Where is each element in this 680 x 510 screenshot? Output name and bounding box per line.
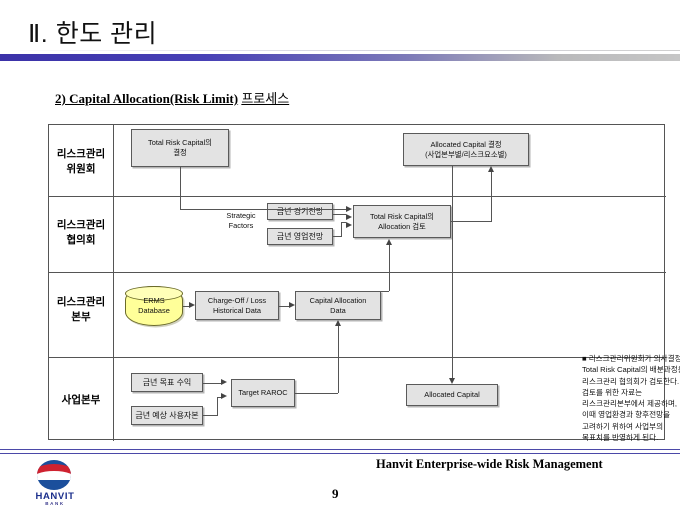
- connector-economy-right: [333, 214, 346, 215]
- connector-cad-left: [381, 291, 389, 292]
- label-strategic-factors: Strategic Factors: [217, 211, 265, 230]
- node-allocated-capital-decision[interactable]: Allocated Capital 결정 (사업본부별/리스크요소별): [403, 133, 529, 166]
- arrow-profit-to-raroc: [221, 379, 227, 385]
- node-target-profit[interactable]: 금년 목표 수익: [131, 373, 203, 392]
- node-chargeoff-loss-data[interactable]: Charge-Off / Loss Historical Data: [195, 291, 279, 320]
- node-erms-database[interactable]: ERMS Database: [125, 286, 183, 326]
- row-label-business-division: 사업본부: [49, 393, 113, 408]
- connector-profit-right: [203, 383, 221, 384]
- page-number: 9: [332, 486, 339, 502]
- connector-capital-right: [203, 415, 217, 416]
- node-capital-allocation-data[interactable]: Capital Allocation Data: [295, 291, 381, 320]
- arrow-erms-to-chargeoff: [189, 302, 195, 308]
- arrow-raroc-to-cad: [335, 320, 341, 326]
- logo-subtext: BANK: [26, 501, 84, 506]
- connector-chargeoff-right: [279, 306, 289, 307]
- row-label-risk-committee: 리스크관리 위원회: [49, 147, 113, 177]
- process-diagram: 리스크관리 위원회 리스크관리 협의회 리스크관리 본부 사업본부 Total …: [48, 124, 665, 440]
- row-divider-3: [49, 357, 666, 358]
- node-total-risk-capital-decision[interactable]: Total Risk Capital의 결정: [131, 129, 229, 167]
- arrow-review-to-allocated-decision: [488, 166, 494, 172]
- connector-trc-right: [180, 209, 346, 210]
- arrow-cad-to-review: [386, 239, 392, 245]
- node-target-raroc[interactable]: Target RAROC: [231, 379, 295, 407]
- connector-raroc-right: [295, 393, 338, 394]
- node-allocation-review[interactable]: Total Risk Capital의 Allocation 검토: [353, 205, 451, 238]
- node-expected-capital[interactable]: 금년 예상 사용자본: [131, 406, 203, 425]
- page-title: Ⅱ. 한도 관리: [28, 14, 157, 50]
- connector-decision-down: [452, 166, 453, 378]
- logo-ellipse-icon: [37, 460, 71, 490]
- connector-business-right: [333, 236, 341, 237]
- connector-review-up: [491, 172, 492, 222]
- subtitle-english: 2) Capital Allocation(Risk Limit): [55, 91, 238, 106]
- header-rule-highlight: [0, 50, 680, 51]
- connector-capital-up: [217, 397, 218, 416]
- section-subtitle: 2) Capital Allocation(Risk Limit) 프로세스: [55, 88, 289, 107]
- arrow-decision-to-allocated-capital: [449, 378, 455, 384]
- arrow-business-to-review: [346, 222, 352, 228]
- arrow-chargeoff-to-cad: [289, 302, 295, 308]
- slide-canvas: Ⅱ. 한도 관리 2) Capital Allocation(Risk Limi…: [0, 0, 680, 510]
- node-allocated-capital[interactable]: Allocated Capital: [406, 384, 498, 406]
- connector-raroc-up: [338, 326, 339, 393]
- arrow-economy-to-review: [346, 214, 352, 220]
- arrow-trc-to-review: [346, 206, 352, 212]
- connector-trc-down: [180, 167, 181, 209]
- row-divider-1: [49, 196, 666, 197]
- connector-business-up: [341, 222, 342, 237]
- row-divider-2: [49, 272, 666, 273]
- header-rule: [0, 54, 680, 61]
- footer-rule: [0, 449, 680, 454]
- label-column-divider: [113, 125, 114, 441]
- footer-title: Hanvit Enterprise-wide Risk Management: [376, 457, 603, 472]
- subtitle-korean: 프로세스: [241, 91, 289, 106]
- arrow-capital-to-raroc: [221, 393, 227, 399]
- hanvit-logo: HANVIT BANK: [26, 460, 84, 506]
- node-economy-outlook[interactable]: 금년 경기전망: [267, 203, 333, 220]
- connector-cad-up: [389, 245, 390, 291]
- connector-review-right: [451, 221, 491, 222]
- explanatory-note: ■ 리스크관리위원회가 의사결정한 Total Risk Capital의 배분…: [582, 353, 680, 443]
- node-business-outlook[interactable]: 금년 영업전망: [267, 228, 333, 245]
- row-label-risk-division: 리스크관리 본부: [49, 295, 113, 325]
- row-label-risk-council: 리스크관리 협의회: [49, 218, 113, 248]
- logo-white-wave: [37, 471, 71, 480]
